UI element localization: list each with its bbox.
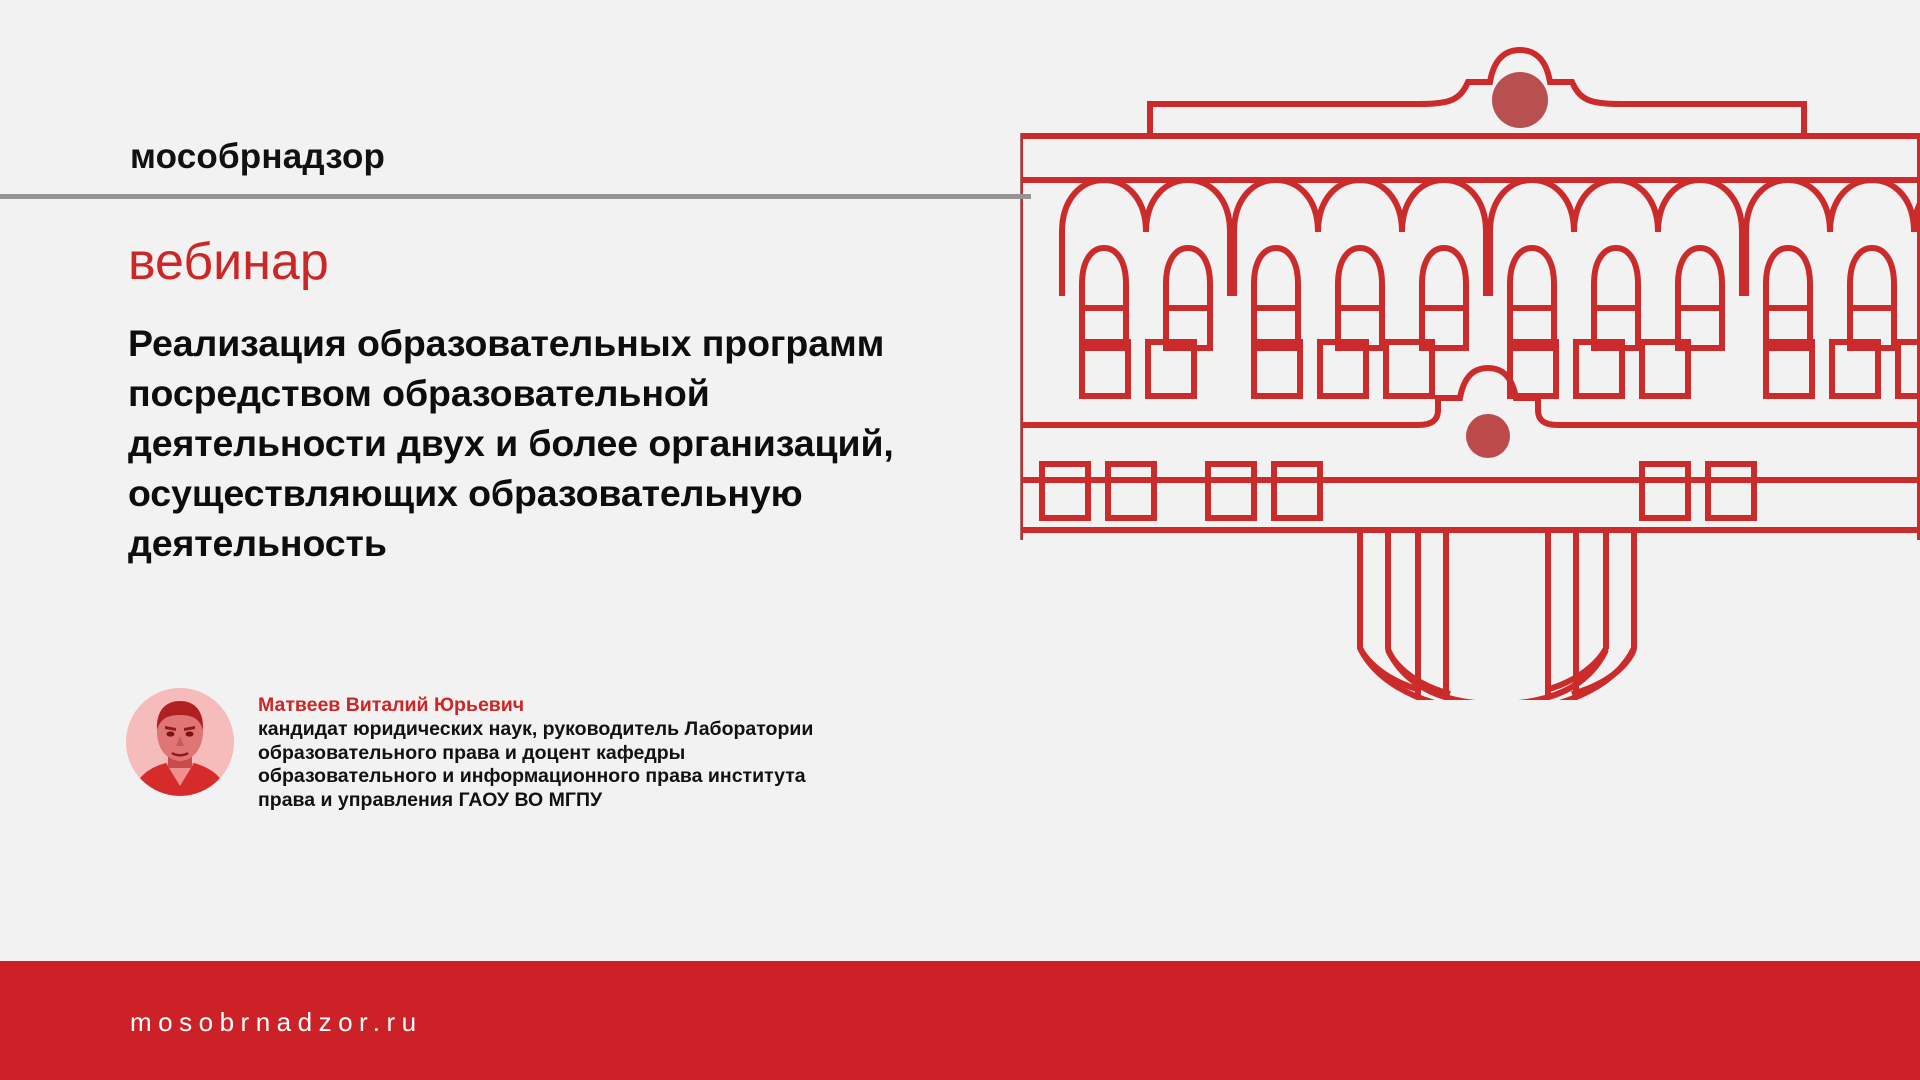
website-url[interactable]: mosobrnadzor.ru — [130, 1007, 423, 1038]
avatar — [126, 688, 234, 796]
presenter-block: Матвеев Виталий Юрьевич кандидат юридиче… — [126, 688, 813, 812]
bio-line-3: образовательного и информационного права… — [258, 765, 813, 789]
brand-logo: мособрнадзор — [130, 137, 385, 177]
top-medallion-icon — [1492, 72, 1548, 128]
title-line-1: Реализация образовательных программ — [128, 318, 1008, 368]
building-illustration — [1020, 40, 1920, 700]
presenter-info: Матвеев Виталий Юрьевич кандидат юридиче… — [258, 688, 813, 812]
title-line-4: осуществляющих образовательную — [128, 468, 1008, 518]
bio-line-1: кандидат юридических наук, руководитель … — [258, 718, 813, 742]
title-line-5: деятельность — [128, 518, 1008, 568]
title-line-2: посредством образовательной — [128, 368, 1008, 418]
mid-medallion-icon — [1466, 414, 1510, 458]
bio-line-4: права и управления ГАОУ ВО МГПУ — [258, 789, 813, 813]
presenter-name: Матвеев Виталий Юрьевич — [258, 693, 813, 717]
presenter-bio: кандидат юридических наук, руководитель … — [258, 718, 813, 812]
webinar-kicker: вебинар — [128, 232, 329, 292]
header-divider — [0, 194, 1031, 199]
title-line-3: деятельности двух и более организаций, — [128, 418, 1008, 468]
bio-line-2: образовательного права и доцент кафедры — [258, 742, 813, 766]
page-title: Реализация образовательных программ поср… — [128, 318, 1008, 568]
